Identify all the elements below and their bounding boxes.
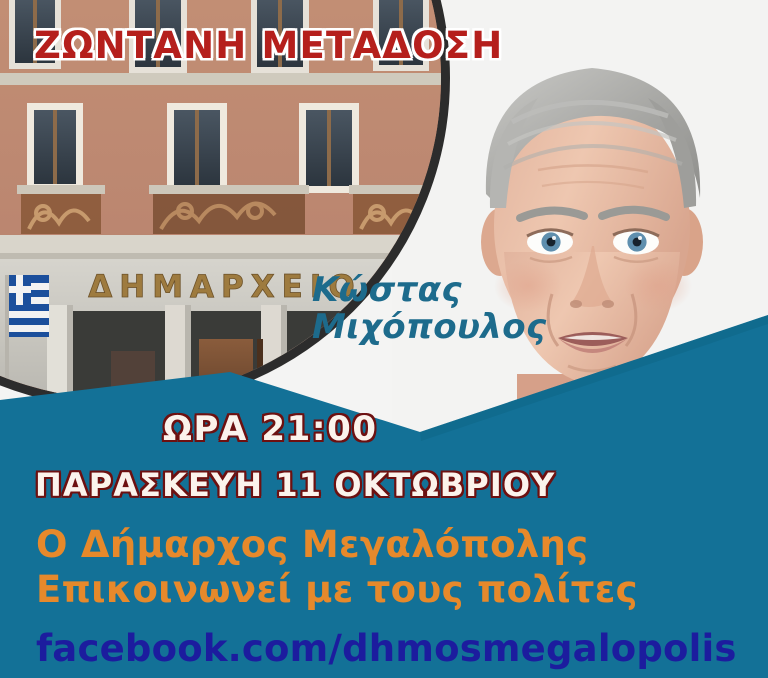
event-date: ΠΑΡΑΣΚΕΥΗ 11 ΟΚΤΩΒΡΙΟΥ [35, 466, 555, 504]
livestream-announcement-poster: ΔΗΜΑΡΧΕΙΟ ΔΗΜΑΡΧΕΙΟ [0, 0, 768, 678]
facebook-page-link[interactable]: facebook.com/dhmosmegalopolis [36, 627, 737, 670]
middle-windows [27, 103, 359, 193]
balcony-railings [17, 185, 441, 234]
live-broadcast-badge: ΖΩΝΤΑΝΗ ΜΕΤΑΔΟΣΗ [34, 24, 503, 67]
event-time: ΩΡΑ 21:00 [163, 409, 378, 449]
event-headline: Ο Δήμαρχος Μεγαλόπολης Επικοινωνεί με το… [36, 522, 638, 612]
speaker-name: Κώστας Μιχόπουλος [312, 272, 547, 345]
